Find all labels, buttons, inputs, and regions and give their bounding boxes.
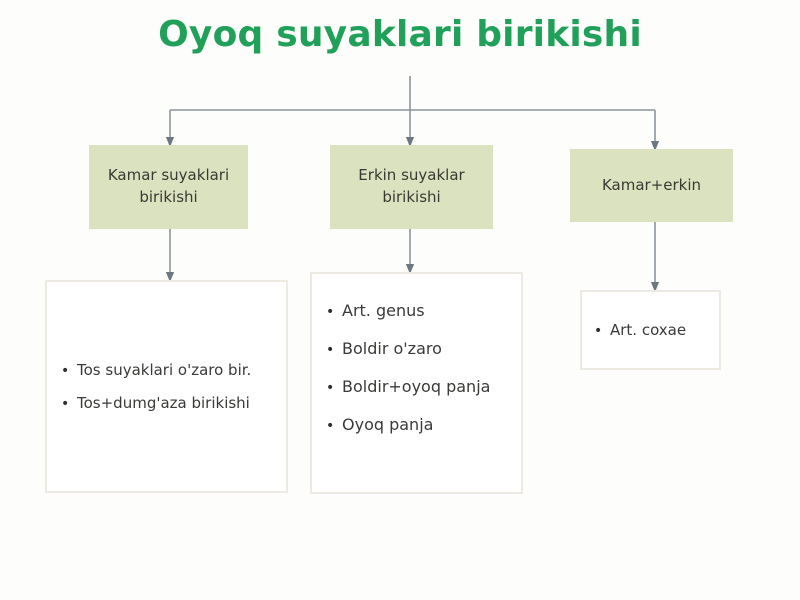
bullet-icon: • xyxy=(61,397,77,411)
list-item: • Art. coxae xyxy=(582,314,719,347)
node-label: Kamar+erkin xyxy=(602,175,701,197)
list-item: • Tos+dumg'aza birikishi xyxy=(47,387,286,420)
node-kamar-suyaklari-birikishi[interactable]: Kamar suyaklari birikishi xyxy=(89,145,248,229)
diagram-canvas: Oyoq suyaklari birikishi Kamar suyaklari… xyxy=(0,0,800,600)
list-box-kamar: • Tos suyaklari o'zaro bir. • Tos+dumg'a… xyxy=(45,280,288,493)
bullet-icon: • xyxy=(326,381,342,395)
bullet-icon: • xyxy=(61,364,77,378)
list-item: • Art. genus xyxy=(312,292,521,330)
bullet-icon: • xyxy=(326,305,342,319)
bullet-icon: • xyxy=(326,343,342,357)
list-item: • Oyoq panja xyxy=(312,406,521,444)
bullet-icon: • xyxy=(594,324,610,338)
list-item: • Boldir+oyoq panja xyxy=(312,368,521,406)
list-item: • Tos suyaklari o'zaro bir. xyxy=(47,354,286,387)
list-item: • Boldir o'zaro xyxy=(312,330,521,368)
node-kamar-erkin[interactable]: Kamar+erkin xyxy=(570,149,733,222)
node-erkin-suyaklar-birikishi[interactable]: Erkin suyaklar birikishi xyxy=(330,145,493,229)
list-item-label: Boldir o'zaro xyxy=(342,339,515,359)
list-item-label: Boldir+oyoq panja xyxy=(342,377,515,397)
list-item-label: Art. coxae xyxy=(610,321,713,340)
list-box-combo: • Art. coxae xyxy=(580,290,721,370)
node-label: Kamar suyaklari birikishi xyxy=(99,165,238,209)
list-item-label: Tos+dumg'aza birikishi xyxy=(77,394,280,413)
list-item-label: Oyoq panja xyxy=(342,415,515,435)
bullet-icon: • xyxy=(326,419,342,433)
list-item-label: Art. genus xyxy=(342,301,515,321)
list-item-label: Tos suyaklari o'zaro bir. xyxy=(77,361,280,380)
list-box-erkin: • Art. genus • Boldir o'zaro • Boldir+oy… xyxy=(310,272,523,494)
node-label: Erkin suyaklar birikishi xyxy=(340,165,483,209)
page-title: Oyoq suyaklari birikishi xyxy=(0,14,800,55)
